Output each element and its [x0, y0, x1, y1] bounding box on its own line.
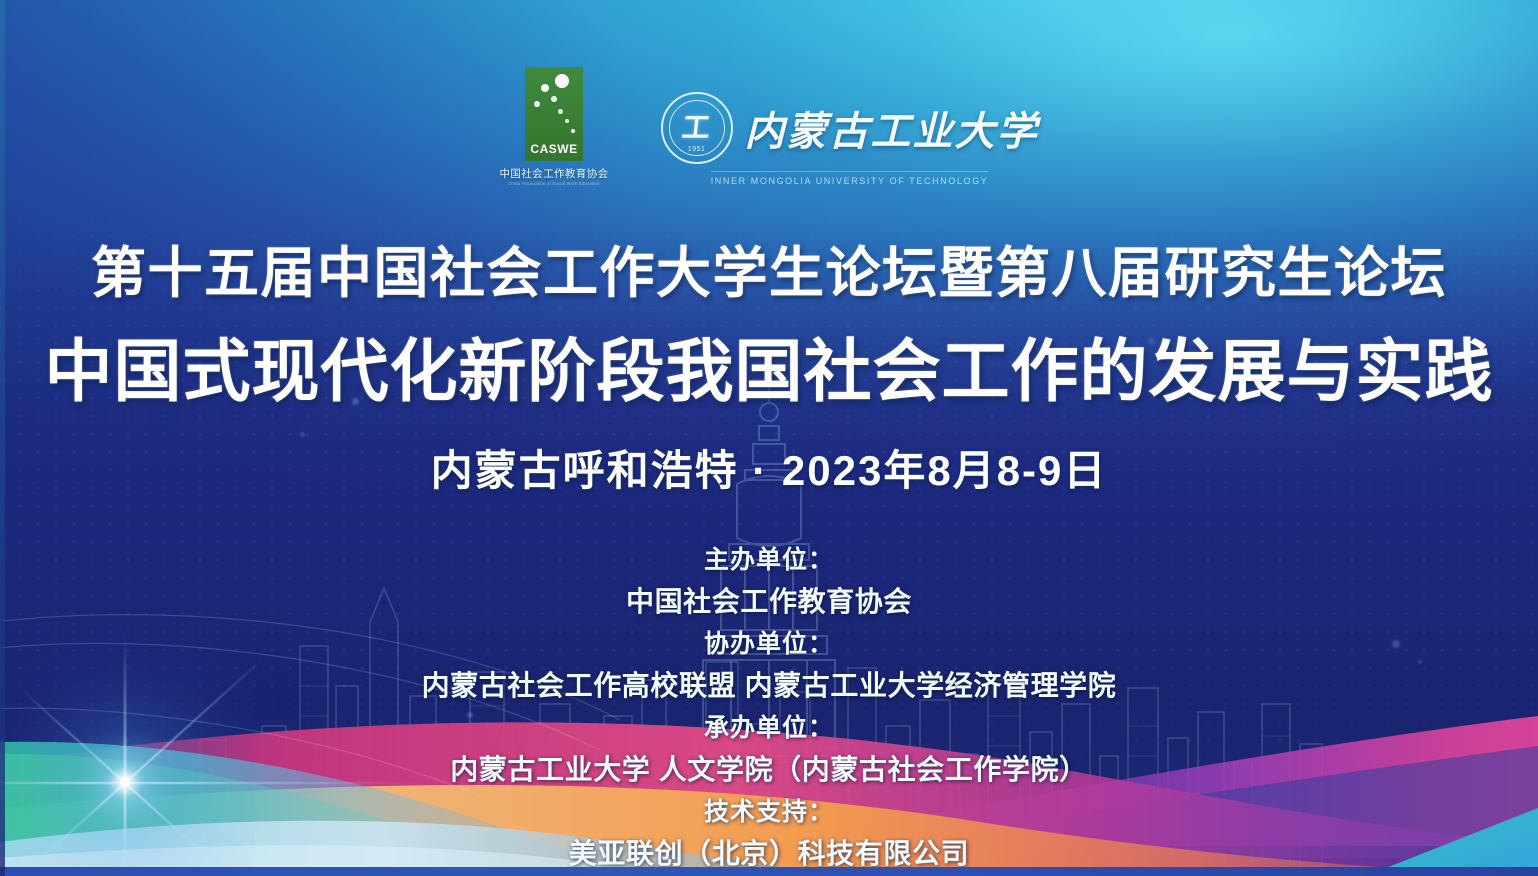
caswe-bubble: [555, 74, 569, 88]
organizer-label: 承办单位：: [704, 708, 834, 744]
imut-seal-year: 1951: [688, 146, 706, 153]
caswe-logo-mark: CASWE: [525, 67, 583, 161]
caswe-bubble: [534, 101, 540, 107]
imut-logo-row: 工 1951 内蒙古工业大学: [661, 92, 1039, 164]
caswe-logo: CASWE 中国社会工作教育协会 China Association of So…: [500, 67, 609, 186]
imut-name-en: INNER MONGOLIA UNIVERSITY OF TECHNOLOGY: [711, 171, 989, 186]
poster-stage: CASWE 中国社会工作教育协会 China Association of So…: [0, 0, 1538, 876]
bottom-edge-strip: [0, 867, 1538, 876]
poster-content: CASWE 中国社会工作教育协会 China Association of So…: [0, 0, 1538, 876]
headline-line-1: 第十五届中国社会工作大学生论坛暨第八届研究生论坛: [91, 228, 1447, 308]
caswe-bubble: [565, 119, 569, 123]
imut-name-cn: 内蒙古工业大学: [745, 99, 1039, 157]
organizer-label: 技术支持：: [704, 792, 834, 828]
logo-row: CASWE 中国社会工作教育协会 China Association of So…: [500, 62, 1039, 186]
headline-line-2: 中国式现代化新阶段我国社会工作的发展与实践: [44, 316, 1493, 415]
caswe-name-cn: 中国社会工作教育协会: [500, 166, 609, 181]
left-edge-strip: [0, 0, 5, 876]
organizer-label: 协办单位：: [704, 624, 834, 660]
headline-subtitle: 内蒙古呼和浩特 · 2023年8月8-9日: [431, 437, 1108, 498]
organizer-value: 美亚联创（北京）科技有限公司: [569, 832, 969, 872]
caswe-acronym: CASWE: [530, 142, 577, 156]
imut-seal-glyph: 工: [681, 114, 712, 142]
imut-seal-emblem: 工 1951: [661, 92, 733, 164]
caswe-bubble: [571, 129, 575, 133]
imut-logo: 工 1951 内蒙古工业大学 INNER MONGOLIA UNIVERSITY…: [661, 92, 1039, 186]
organizer-label: 主办单位：: [704, 540, 834, 576]
organizer-value: 内蒙古工业大学 人文学院（内蒙古社会工作学院）: [450, 748, 1088, 788]
organizer-value: 内蒙古社会工作高校联盟 内蒙古工业大学经济管理学院: [422, 664, 1117, 704]
caswe-bubble: [541, 84, 549, 92]
organizer-value: 中国社会工作教育协会: [626, 580, 912, 620]
caswe-bubble: [558, 109, 563, 114]
organizer-block: 主办单位： 中国社会工作教育协会 协办单位： 内蒙古社会工作高校联盟 内蒙古工业…: [422, 540, 1117, 872]
caswe-bubble: [551, 96, 557, 102]
caswe-name-en: China Association of Social Work Educati…: [508, 181, 600, 186]
